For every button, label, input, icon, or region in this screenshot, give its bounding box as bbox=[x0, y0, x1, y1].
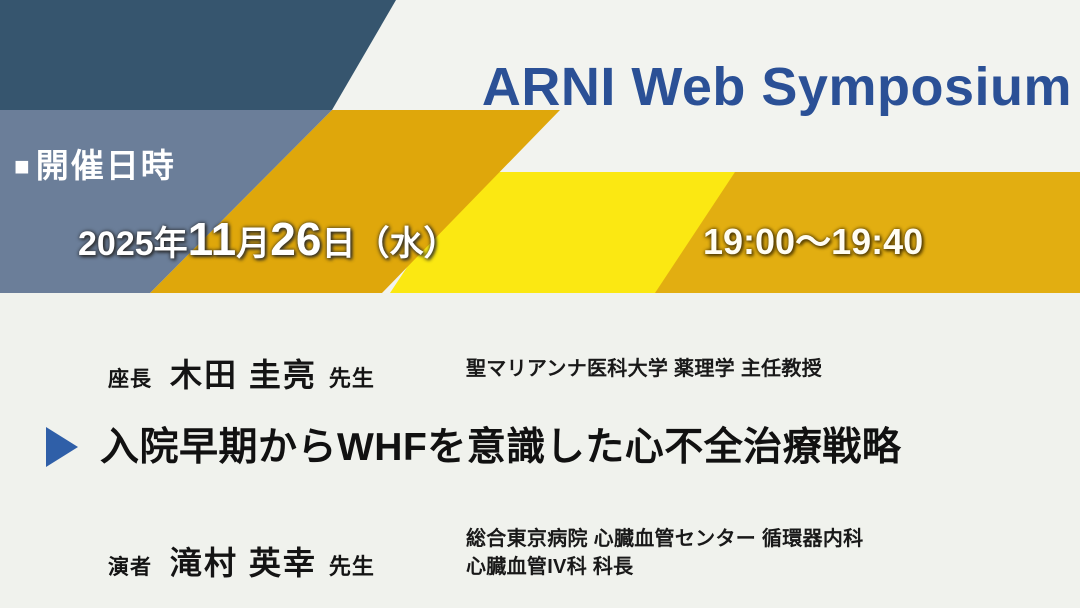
chair-honorific: 先生 bbox=[329, 366, 375, 391]
navy-block-shape bbox=[0, 0, 396, 110]
chair-role-label: 座長 bbox=[108, 368, 152, 391]
chair-name: 木田 圭亮 bbox=[170, 357, 317, 393]
chair-row: 座長木田 圭亮先生 bbox=[108, 350, 375, 396]
triangle-marker-icon bbox=[46, 427, 78, 467]
chair-affiliation: 聖マリアンナ医科大学 薬理学 主任教授 bbox=[466, 355, 822, 383]
event-title: ARNI Web Symposium bbox=[482, 60, 1072, 114]
event-date-day-number: 26 bbox=[270, 213, 321, 265]
speaker-affiliation-line: 心臓血管IV科 科長 bbox=[466, 553, 863, 581]
event-date-day-suffix: 日（水） bbox=[321, 225, 457, 263]
symposium-flyer: ARNI Web Symposium ■開催日時 2025年11月26日（水） … bbox=[0, 0, 1080, 608]
event-date-year: 2025年 bbox=[78, 225, 188, 263]
talk-title: 入院早期からWHFを意識した心不全治療戦略 bbox=[100, 428, 901, 467]
speaker-name: 滝村 英幸 bbox=[170, 545, 317, 581]
event-date-month-kanji: 月 bbox=[236, 225, 270, 263]
header-banner: ARNI Web Symposium ■開催日時 2025年11月26日（水） … bbox=[0, 0, 1080, 293]
event-date-month-number: 11 bbox=[188, 213, 237, 265]
speaker-affiliation-line: 総合東京病院 心臓血管センター 循環器内科 bbox=[466, 525, 863, 553]
speaker-role-label: 演者 bbox=[108, 556, 152, 579]
square-bullet-icon: ■ bbox=[14, 151, 32, 181]
schedule-heading-label: 開催日時 bbox=[36, 147, 176, 184]
schedule-heading: ■開催日時 bbox=[14, 148, 176, 184]
event-time: 19:00〜19:40 bbox=[703, 224, 923, 260]
speaker-affiliation: 総合東京病院 心臓血管センター 循環器内科 心臓血管IV科 科長 bbox=[466, 525, 863, 582]
speaker-honorific: 先生 bbox=[329, 554, 375, 579]
event-date: 2025年11月26日（水） bbox=[78, 216, 457, 262]
chair-affiliation-line: 聖マリアンナ医科大学 薬理学 主任教授 bbox=[466, 355, 822, 383]
speaker-row: 演者滝村 英幸先生 bbox=[108, 538, 375, 584]
talk-title-row: 入院早期からWHFを意識した心不全治療戦略 bbox=[46, 427, 901, 467]
